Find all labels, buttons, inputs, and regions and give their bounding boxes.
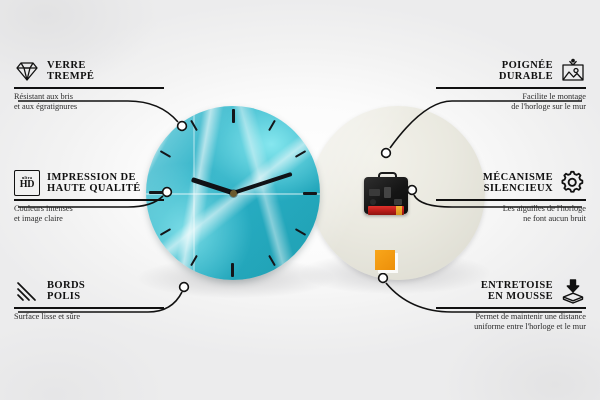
mechanism-detail: [370, 199, 376, 205]
clock-front-view: [146, 106, 320, 280]
mechanism-detail: [384, 187, 391, 198]
feature-title: MÉCANISME SILENCIEUX: [483, 172, 553, 195]
feature-title: POIGNÉE DURABLE: [499, 60, 553, 83]
clock-tick: [233, 192, 317, 194]
feature-entretoise-en-mousse: ENTRETOISE EN MOUSSE Permet de maintenir…: [436, 278, 586, 332]
feature-poignee-durable: POIGNÉE DURABLE Facilite le montage de l…: [436, 58, 586, 112]
ultra-hd-big-text: HD: [20, 180, 34, 190]
feature-divider: [14, 199, 164, 201]
feature-impression-haute-qualite: ultra HD IMPRESSION DE HAUTE QUALITÉ Cou…: [14, 170, 164, 224]
feature-title: IMPRESSION DE HAUTE QUALITÉ: [47, 172, 141, 195]
mechanism-detail: [394, 199, 402, 205]
feature-divider: [436, 199, 586, 201]
feature-description: Résistant aux bris et aux égratignures: [14, 92, 164, 112]
feature-divider: [436, 87, 586, 89]
infographic-canvas: VERRE TREMPÉ Résistant aux bris et aux é…: [0, 0, 600, 400]
feature-description: Facilite le montage de l'horloge sur le …: [436, 92, 586, 112]
feature-title: BORDS POLIS: [47, 280, 85, 303]
feature-divider: [14, 87, 164, 89]
feature-description: Permet de maintenir une distance uniform…: [436, 312, 586, 332]
mechanism-housing: [364, 177, 408, 214]
polished-edges-icon: [14, 278, 40, 304]
foam-spacer-arrow-icon: [560, 278, 586, 304]
clock-tick: [232, 109, 234, 193]
feature-divider: [436, 307, 586, 309]
gear-icon: [560, 170, 586, 196]
feature-description: Couleurs intenses et image claire: [14, 204, 164, 224]
feature-title: ENTRETOISE EN MOUSSE: [481, 280, 553, 303]
clock-center-pin: [230, 190, 237, 197]
feature-description: Surface lisse et sûre: [14, 312, 164, 322]
feature-description: Les aiguilles de l'horloge ne font aucun…: [436, 204, 586, 224]
mechanism-detail: [369, 189, 380, 196]
clock-mechanism: [364, 172, 408, 214]
battery-terminal: [396, 206, 402, 215]
clock-tick: [232, 193, 234, 277]
feature-mecanisme-silencieux: MÉCANISME SILENCIEUX Les aiguilles de l'…: [436, 170, 586, 224]
feature-verre-trempe: VERRE TREMPÉ Résistant aux bris et aux é…: [14, 58, 164, 112]
diamond-icon: [14, 58, 40, 84]
feature-title: VERRE TREMPÉ: [47, 60, 94, 83]
foam-spacer-pad: [375, 250, 395, 270]
picture-hanger-icon: [560, 58, 586, 84]
ultra-hd-icon: ultra HD: [14, 170, 40, 196]
feature-bords-polis: BORDS POLIS Surface lisse et sûre: [14, 278, 164, 322]
feature-divider: [14, 307, 164, 309]
